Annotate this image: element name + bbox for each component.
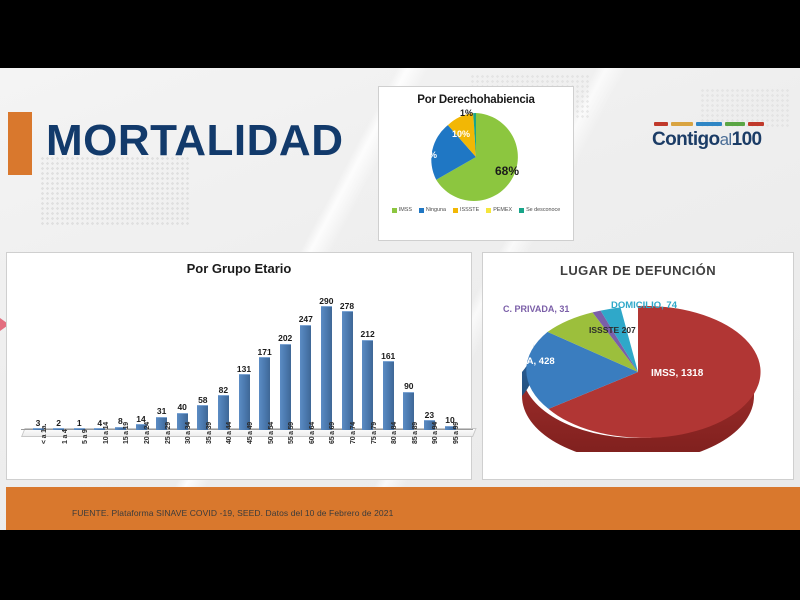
logo-text-al: al <box>720 130 732 149</box>
pie-label-issste: ISSSTE 207 <box>589 326 636 335</box>
title-accent-block <box>8 112 32 175</box>
legend-swatch-imss <box>392 208 397 213</box>
legend-label-pemex: PEMEX <box>493 207 512 213</box>
letterbox-top <box>0 0 800 68</box>
legend-item-imss: IMSS <box>392 207 412 213</box>
bar-column: 161 <box>381 280 395 430</box>
bar-value-label: 2 <box>56 419 61 428</box>
bar-category-label: 5 a 9 <box>82 433 89 444</box>
bar-category-label: 20 a 24 <box>144 433 151 444</box>
bar-column: 202 <box>278 280 292 430</box>
legend-item-issste: ISSSTE <box>453 207 479 213</box>
bar-column: 2 <box>52 280 66 430</box>
bar-category-label: 15 a 19 <box>123 433 130 444</box>
bar-value-label: 247 <box>299 315 313 324</box>
bar-rect <box>300 325 311 430</box>
bar-category-label: 80 a 84 <box>391 433 398 444</box>
bar-value-label: 58 <box>198 396 207 405</box>
bar-category-label: 55 a 59 <box>288 433 295 444</box>
bar-value-label: 131 <box>237 365 251 374</box>
bar-column: 1 <box>72 280 86 430</box>
letterbox-bottom <box>0 530 800 600</box>
pie-value-imss: 68% <box>495 164 519 178</box>
legend-item-pemex: PEMEX <box>486 207 512 213</box>
bar-chart-grupo-etario: 3214814314058821311712022472902782121619… <box>17 280 465 430</box>
chart-panel-grupo-etario: Por Grupo Etario 32148143140588213117120… <box>6 252 472 480</box>
logo-dashes <box>652 122 772 126</box>
bar-category-label: 75 a 79 <box>371 433 378 444</box>
bar-column: 212 <box>361 280 375 430</box>
bar-value-label: 4 <box>97 419 102 428</box>
bar-value-label: 31 <box>157 407 166 416</box>
bar-rect <box>280 344 291 430</box>
bar-category-label: 10 a 14 <box>103 433 110 444</box>
pie-label-issea: ISSEA, 428 <box>505 356 555 367</box>
bar-category-label: 40 a 44 <box>226 433 233 444</box>
bar-category-label: 85 a 89 <box>412 433 419 444</box>
footer-source-text: FUENTE. Plataforma SINAVE COVID -19, SEE… <box>72 508 393 518</box>
bar-column: 23 <box>422 280 436 430</box>
bar-category-label: 65 a 69 <box>329 433 336 444</box>
legend-label-se-desconoce: Se desconoce <box>526 207 560 213</box>
pie-svg-derechohabiencia <box>424 108 528 204</box>
chart-title-lugar-defuncion: LUGAR DE DEFUNCIÓN <box>483 263 793 278</box>
bar-value-label: 1 <box>77 419 82 428</box>
legend-swatch-se-desconoce <box>519 208 524 213</box>
bar-column: 8 <box>113 280 127 430</box>
pie-value-pemex: 1% <box>460 108 473 118</box>
chart-panel-lugar-defuncion: LUGAR DE DEFUNCIÓN <box>482 252 794 480</box>
bar-column: 3 <box>31 280 45 430</box>
bar-rect <box>362 340 373 430</box>
bar-column: 90 <box>402 280 416 430</box>
bar-value-label: 23 <box>425 411 434 420</box>
bar-rect <box>321 306 332 430</box>
pie-value-issste: 10% <box>452 129 470 139</box>
bar-value-label: 278 <box>340 302 354 311</box>
bar-value-label: 202 <box>278 334 292 343</box>
bar-value-label: 212 <box>361 330 375 339</box>
bar-rect <box>383 361 394 430</box>
pie-chart-derechohabiencia: 68% 21% 10% 1% <box>379 106 573 204</box>
legend-label-issste: ISSSTE <box>460 207 479 213</box>
halftone-texture <box>40 156 190 226</box>
bar-value-label: 161 <box>381 352 395 361</box>
bar-column: 247 <box>299 280 313 430</box>
pie-label-imss: IMSS, 1318 <box>651 368 703 379</box>
legend-item-se-desconoce: Se desconoce <box>519 207 560 213</box>
bar-column: 131 <box>237 280 251 430</box>
bar-column: 31 <box>155 280 169 430</box>
bar-column: 14 <box>134 280 148 430</box>
bar-value-label: 90 <box>404 382 413 391</box>
contigo-al-100-logo: Contigoal100 <box>652 122 772 151</box>
bar-category-label: 50 a 54 <box>268 433 275 444</box>
bar-value-label: 171 <box>258 348 272 357</box>
legend-label-imss: IMSS <box>399 207 412 213</box>
bar-value-label: 290 <box>319 297 333 306</box>
bar-column: 290 <box>319 280 333 430</box>
logo-text-contigo: Contigo <box>652 129 720 150</box>
screenshot-root: MORTALIDAD Contigoal100 Por Derechohabie… <box>0 0 800 600</box>
bar-category-label: 35 a 39 <box>206 433 213 444</box>
legend-swatch-ninguna <box>419 208 424 213</box>
chart-title-grupo-etario: Por Grupo Etario <box>7 261 471 276</box>
bar-category-label: 60 a 64 <box>309 433 316 444</box>
bar-rect <box>259 357 270 430</box>
bar-rect <box>342 311 353 430</box>
bar-column: 10 <box>443 280 457 430</box>
logo-text-100: 100 <box>732 129 762 150</box>
legend-swatch-issste <box>453 208 458 213</box>
pie-chart-lugar-defuncion: C. PRIVADA, 31 DOMICILIO, 74 ISSSTE 207 … <box>483 278 793 458</box>
bar-category-label: < a 1a. <box>41 433 48 444</box>
legend-item-ninguna: Ninguna <box>419 207 446 213</box>
bar-column: 4 <box>93 280 107 430</box>
bar-category-label: 45 a 49 <box>247 433 254 444</box>
chart-title-derechohabiencia: Por Derechohabiencia <box>379 94 573 106</box>
bar-chart-category-labels: < a 1a.1 a 45 a 910 a 1415 a 1920 a 2425… <box>17 444 465 488</box>
logo-text: Contigoal100 <box>652 129 772 151</box>
chart-panel-derechohabiencia: Por Derechohabiencia 68% 21% 10% 1% IMS <box>378 86 574 241</box>
bar-category-label: 1 a 4 <box>62 433 69 444</box>
bar-column: 40 <box>175 280 189 430</box>
bar-category-label: 30 a 34 <box>185 433 192 444</box>
bar-category-label: 70 a 74 <box>350 433 357 444</box>
bar-category-label: 90 a 94 <box>432 433 439 444</box>
bar-column: 278 <box>340 280 354 430</box>
bar-value-label: 82 <box>219 386 228 395</box>
bar-category-label: 25 a 29 <box>165 433 172 444</box>
bar-value-label: 3 <box>36 419 41 428</box>
legend-label-ninguna: Ninguna <box>426 207 446 213</box>
pie-value-ninguna: 21% <box>419 150 437 160</box>
page-title: MORTALIDAD <box>46 116 343 166</box>
bar-column: 82 <box>216 280 230 430</box>
bar-value-label: 40 <box>177 403 186 412</box>
bar-column: 171 <box>258 280 272 430</box>
pie-label-domicilio: DOMICILIO, 74 <box>611 300 677 311</box>
bar-column: 58 <box>196 280 210 430</box>
legend-swatch-pemex <box>486 208 491 213</box>
bar-category-label: 95 a 99 <box>453 433 460 444</box>
chart-legend-derechohabiencia: IMSS Ninguna ISSSTE PEMEX Se desconoce <box>379 207 573 213</box>
pie-label-c-privada: C. PRIVADA, 31 <box>503 304 569 314</box>
